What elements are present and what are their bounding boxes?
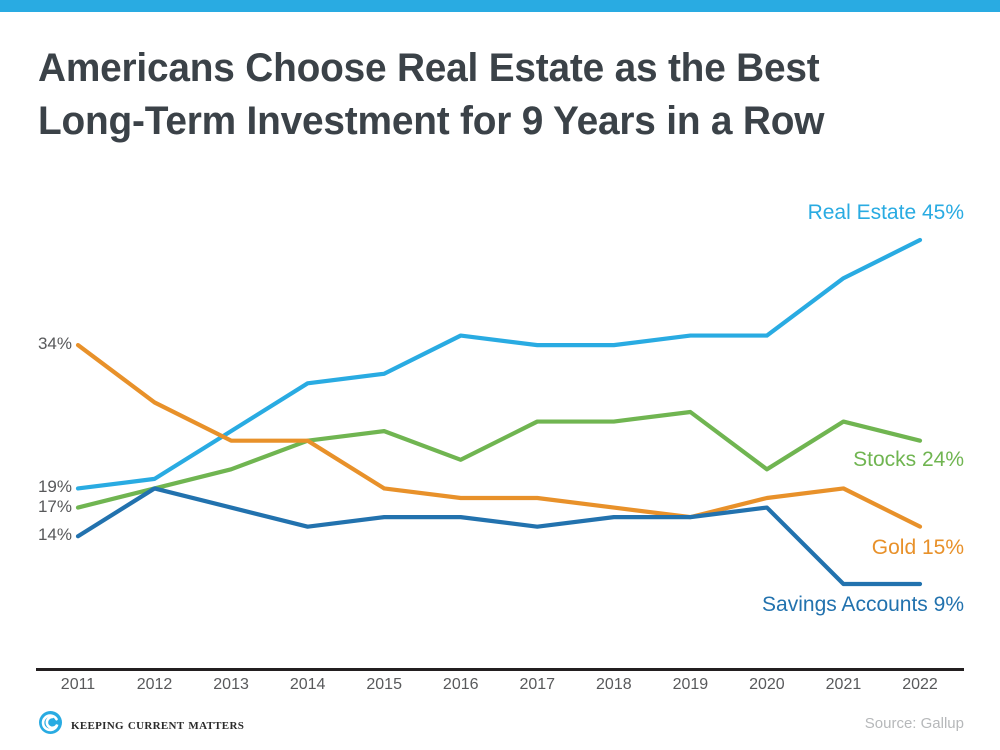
title-line-1: Americans Choose Real Estate as the Best [38, 42, 940, 95]
x-axis-tick-2012: 2012 [137, 676, 173, 694]
x-axis-tick-2022: 2022 [902, 676, 938, 694]
source-attribution: Source: Gallup [865, 715, 964, 732]
series-line-savings-accounts [78, 488, 920, 584]
brand-logo: Keeping Current Matters [38, 710, 244, 740]
series-line-gold [78, 345, 920, 527]
x-axis-line [36, 668, 964, 671]
series-label-gold: Gold 15% [872, 536, 964, 560]
x-axis-tick-2014: 2014 [290, 676, 326, 694]
x-axis-tick-2011: 2011 [61, 676, 95, 694]
brand-name: Keeping Current Matters [71, 717, 244, 734]
series-line-stocks [78, 412, 920, 508]
series-line-real-estate [78, 240, 920, 488]
y-axis-tick-19pct: 19% [34, 477, 72, 497]
series-label-stocks: Stocks 24% [853, 448, 964, 472]
series-label-savings-accounts: Savings Accounts 9% [762, 593, 964, 617]
top-accent-bar [0, 0, 1000, 12]
footer: Keeping Current Matters Source: Gallup [0, 706, 1000, 750]
x-axis-tick-2015: 2015 [366, 676, 402, 694]
x-axis-tick-2021: 2021 [826, 676, 862, 694]
x-axis-tick-labels: 2011201220132014201520162017201820192020… [36, 676, 964, 702]
spiral-circle-icon [38, 710, 63, 740]
x-axis-tick-2013: 2013 [213, 676, 249, 694]
x-axis-tick-2018: 2018 [596, 676, 632, 694]
y-axis-tick-14pct: 14% [34, 525, 72, 545]
x-axis-tick-2016: 2016 [443, 676, 479, 694]
series-label-real-estate: Real Estate 45% [808, 201, 964, 225]
page-title: Americans Choose Real Estate as the Best… [38, 42, 968, 148]
y-axis-tick-17pct: 17% [34, 497, 72, 517]
x-axis-tick-2017: 2017 [519, 676, 555, 694]
x-axis-tick-2020: 2020 [749, 676, 785, 694]
x-axis-tick-2019: 2019 [673, 676, 709, 694]
y-axis-tick-34pct: 34% [34, 334, 72, 354]
title-line-2: Long-Term Investment for 9 Years in a Ro… [38, 95, 940, 148]
